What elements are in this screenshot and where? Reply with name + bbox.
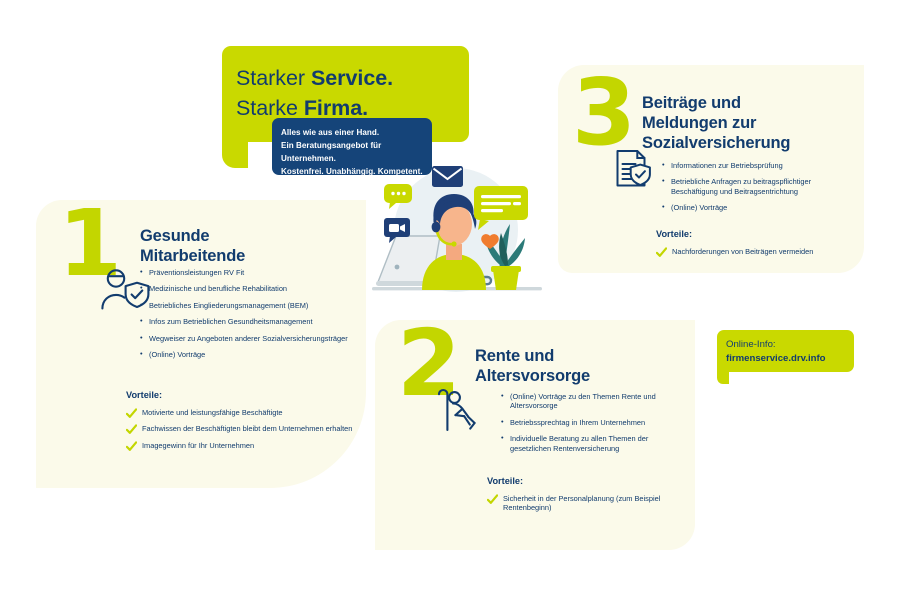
card-1-title: Gesunde Mitarbeitende xyxy=(140,226,245,266)
card-3-title-line3: Sozialversicherung xyxy=(642,134,790,152)
bullet-item: Wegweiser zu Angeboten anderer Sozialver… xyxy=(140,334,356,343)
card-3-title: Beiträge und Meldungen zur Sozialversich… xyxy=(642,93,790,153)
benefit-item: Imagegewinn für Ihr Unternehmen xyxy=(126,441,356,450)
card-1-benefits-list: Motivierte und leistungsfähige Beschäfti… xyxy=(126,408,356,457)
benefit-text: Sicherheit in der Personalplanung (zum B… xyxy=(503,494,660,512)
headline-line2-bold: Firma. xyxy=(304,96,368,120)
card-3-title-line2: Meldungen zur xyxy=(642,114,756,132)
bullet-item: (Online) Vorträge zu den Themen Rente un… xyxy=(501,392,683,411)
online-info-text: Online-Info: firmenservice.drv.info xyxy=(726,338,850,365)
headline-text: Starker Service. Starke Firma. xyxy=(236,64,466,123)
bullet-item: Informationen zur Betriebsprüfung xyxy=(662,161,852,170)
check-icon xyxy=(656,247,667,258)
document-check-icon xyxy=(608,147,656,196)
online-info-label: Online-Info: xyxy=(726,339,776,350)
benefit-text: Fachwissen der Beschäftigten bleibt dem … xyxy=(142,424,352,433)
bullet-item: (Online) Vorträge xyxy=(662,203,852,212)
benefit-item: Sicherheit in der Personalplanung (zum B… xyxy=(487,494,683,513)
card-2-benefits-heading: Vorteile: xyxy=(487,476,523,486)
check-icon xyxy=(126,408,137,419)
bullet-item: (Online) Vorträge xyxy=(140,350,356,359)
envelope-icon xyxy=(432,166,463,187)
check-icon xyxy=(126,441,137,452)
card-beitraege-und-meldungen: 3 Beiträge und Meldungen zur Sozialversi… xyxy=(558,65,864,273)
headline-line1-bold: Service. xyxy=(311,66,393,90)
online-info-url[interactable]: firmenservice.drv.info xyxy=(726,353,826,364)
card-3-benefits-heading: Vorteile: xyxy=(656,229,692,239)
subheadline-line1: Alles wie aus einer Hand. xyxy=(281,128,379,137)
headline-line2-plain: Starke xyxy=(236,96,304,120)
headline-bubble-tail xyxy=(222,142,248,168)
card-rente-und-altersvorsorge: 2 Rente und Altersvorsorge (Online xyxy=(375,320,695,550)
card-1-bullet-list: Präventionsleistungen RV FitMedizinische… xyxy=(140,268,356,367)
benefit-item: Nachforderungen von Beiträgen vermeiden xyxy=(656,247,856,256)
bullet-item: Betriebliche Anfragen zu beitragspflicht… xyxy=(662,177,852,196)
card-1-title-line2: Mitarbeitende xyxy=(140,247,245,265)
headline-line1-plain: Starker xyxy=(236,66,311,90)
infographic-canvas: 1 Gesunde Mitarbeitende Präventionsleist… xyxy=(0,0,900,600)
card-3-benefits-list: Nachforderungen von Beiträgen vermeiden xyxy=(656,247,856,263)
card-2-title-line2: Altersvorsorge xyxy=(475,367,590,385)
card-3-bullet-list: Informationen zur BetriebsprüfungBetrieb… xyxy=(662,161,852,220)
person-cane-icon xyxy=(433,386,487,437)
card-3-number: 3 xyxy=(572,77,632,149)
bullet-item: Infos zum Betrieblichen Gesundheitsmanag… xyxy=(140,317,356,326)
check-icon xyxy=(487,494,498,505)
subheadline-line3: Kostenfrei. Unabhängig. Kompetent. xyxy=(281,167,423,176)
card-2-benefits-list: Sicherheit in der Personalplanung (zum B… xyxy=(487,494,683,520)
benefit-item: Fachwissen der Beschäftigten bleibt dem … xyxy=(126,424,356,433)
benefit-text: Motivierte und leistungsfähige Beschäfti… xyxy=(142,408,283,417)
card-1-title-line1: Gesunde xyxy=(140,227,209,245)
check-icon xyxy=(126,424,137,435)
bullet-item: Betriebliches Eingliederungsmanagement (… xyxy=(140,301,356,310)
card-2-title: Rente und Altersvorsorge xyxy=(475,346,590,386)
bullet-item: Betriebssprechtag in Ihrem Unternehmen xyxy=(501,418,683,427)
benefit-text: Nachforderungen von Beiträgen vermeiden xyxy=(672,247,813,256)
card-2-bullet-list: (Online) Vorträge zu den Themen Rente un… xyxy=(501,392,683,460)
subheadline-text: Alles wie aus einer Hand. Ein Beratungsa… xyxy=(281,126,429,178)
bullet-item: Präventionsleistungen RV Fit xyxy=(140,268,356,277)
card-3-title-line1: Beiträge und xyxy=(642,94,741,112)
bullet-item: Individuelle Beratung zu allen Themen de… xyxy=(501,434,683,453)
card-gesunde-mitarbeitende: 1 Gesunde Mitarbeitende Präventionsleist… xyxy=(36,200,366,488)
card-2-title-line1: Rente und xyxy=(475,347,554,365)
customer-service-agent-illustration xyxy=(352,160,552,300)
benefit-text: Imagegewinn für Ihr Unternehmen xyxy=(142,441,254,450)
online-info-badge-tail xyxy=(717,372,729,384)
bullet-item: Medizinische und berufliche Rehabilitati… xyxy=(140,284,356,293)
subheadline-line2: Ein Beratungsangebot für Unternehmen. xyxy=(281,141,381,163)
benefit-item: Motivierte und leistungsfähige Beschäfti… xyxy=(126,408,356,417)
card-1-benefits-heading: Vorteile: xyxy=(126,390,162,400)
